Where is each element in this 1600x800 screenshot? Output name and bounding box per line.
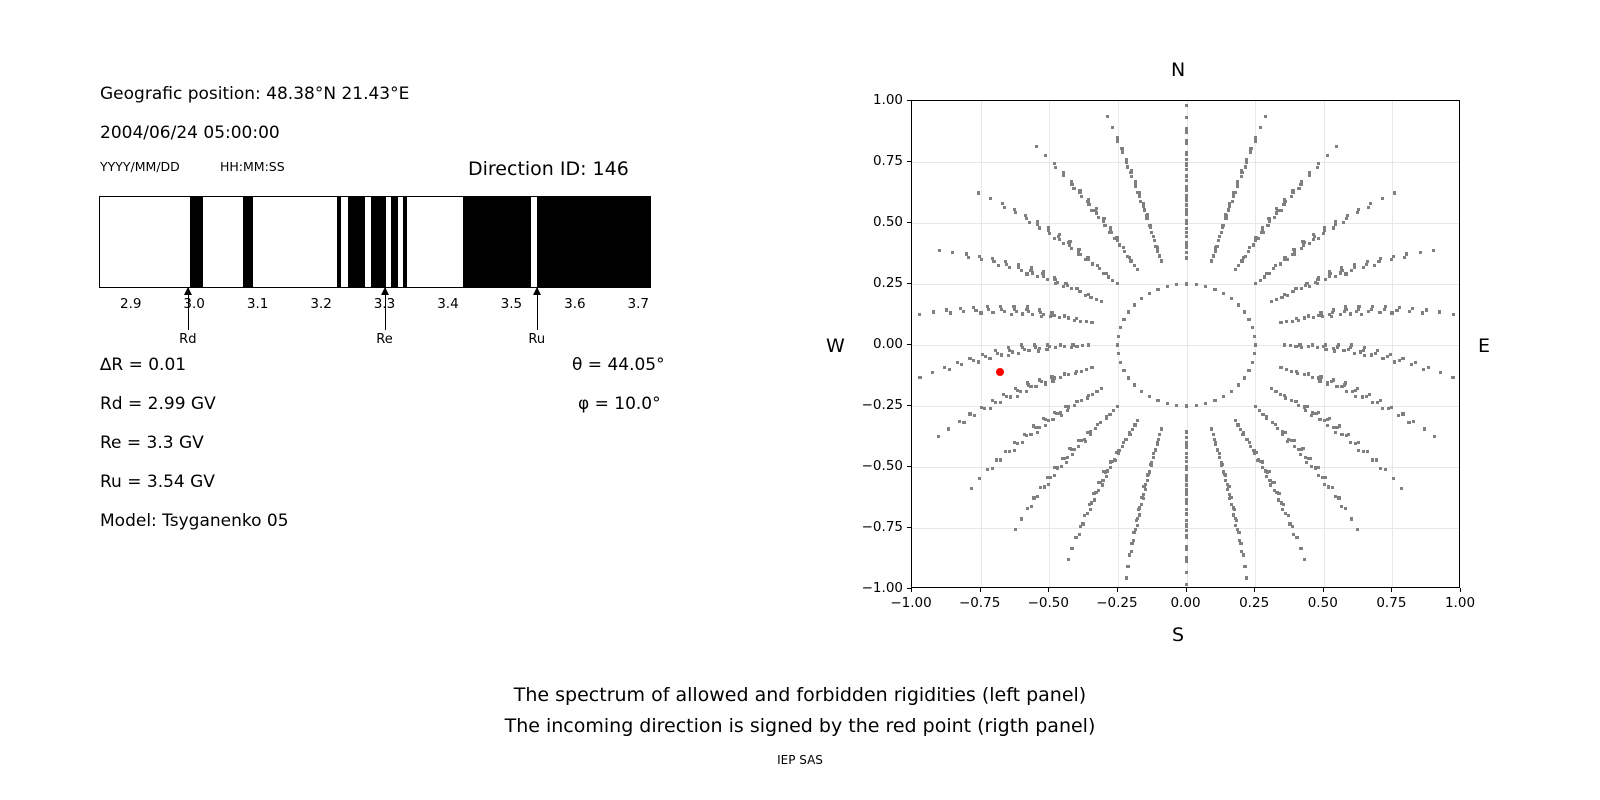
direction-point <box>1427 366 1430 369</box>
direction-point <box>1109 466 1112 469</box>
direction-point <box>1270 300 1273 303</box>
direction-point <box>1122 369 1125 372</box>
direction-point <box>1021 312 1024 315</box>
direction-point <box>1059 411 1062 414</box>
direction-point <box>1451 376 1454 379</box>
direction-point <box>1039 486 1042 489</box>
x-tick-mark <box>911 588 912 592</box>
direction-point <box>1080 195 1083 198</box>
direction-point <box>1245 576 1248 579</box>
direction-point <box>1122 318 1125 321</box>
direction-point <box>1036 275 1039 278</box>
y-tick-mark <box>907 466 911 467</box>
direction-point <box>1291 189 1294 192</box>
direction-point <box>1132 531 1135 534</box>
direction-point <box>1016 442 1019 445</box>
direction-point <box>956 361 959 364</box>
direction-point <box>1259 279 1262 282</box>
rigidity-tick-label: 3.5 <box>501 296 522 312</box>
direction-point <box>1204 402 1207 405</box>
direction-point <box>1070 183 1073 186</box>
direction-point <box>1217 239 1220 242</box>
direction-point <box>1234 419 1237 422</box>
direction-point <box>1095 211 1098 214</box>
direction-point <box>1281 508 1284 511</box>
direction-point <box>1289 344 1292 347</box>
direction-point <box>1011 350 1014 353</box>
direction-point <box>1115 451 1118 454</box>
direction-point <box>1401 357 1404 360</box>
direction-point <box>1300 247 1303 250</box>
direction-point <box>1294 287 1297 290</box>
direction-point <box>1038 226 1041 229</box>
direction-point <box>1326 381 1329 384</box>
direction-point <box>1185 162 1188 165</box>
direction-point <box>1242 553 1245 556</box>
direction-point <box>1312 316 1315 319</box>
direction-point <box>1410 363 1413 366</box>
direction-point <box>1146 217 1149 220</box>
direction-point <box>986 468 989 471</box>
direction-point <box>1136 419 1139 422</box>
direction-point <box>1311 411 1314 414</box>
direction-point <box>1212 254 1215 257</box>
direction-point <box>1433 435 1436 438</box>
direction-point <box>1392 255 1395 258</box>
direction-point <box>1107 275 1110 278</box>
direction-point <box>1185 493 1188 496</box>
direction-point <box>1319 375 1322 378</box>
direction-point <box>1059 376 1062 379</box>
direction-point <box>1305 461 1308 464</box>
direction-point <box>1185 174 1188 177</box>
direction-point <box>1067 316 1070 319</box>
direction-point <box>1119 361 1122 364</box>
direction-point <box>1421 311 1424 314</box>
forbidden-band <box>537 197 651 287</box>
direction-point <box>1375 458 1378 461</box>
direction-point <box>1357 441 1360 444</box>
direction-point <box>1087 343 1090 346</box>
direction-point <box>1349 441 1352 444</box>
direction-point <box>1244 165 1247 168</box>
figure-footer: IEP SAS <box>0 753 1600 767</box>
direction-point <box>1390 311 1393 314</box>
direction-point <box>1291 525 1294 528</box>
direction-point <box>1012 305 1015 308</box>
direction-point <box>1249 147 1252 150</box>
direction-point <box>1156 441 1159 444</box>
direction-point <box>1059 343 1062 346</box>
direction-point <box>1033 343 1036 346</box>
compass-label-south: S <box>1172 624 1184 646</box>
direction-point <box>1146 474 1149 477</box>
direction-point <box>983 407 986 410</box>
direction-point <box>1036 220 1039 223</box>
direction-point <box>1254 140 1257 143</box>
direction-point <box>1407 421 1410 424</box>
direction-point <box>1274 390 1277 393</box>
direction-point <box>1120 147 1123 150</box>
direction-point <box>1026 507 1029 510</box>
direction-point <box>1303 373 1306 376</box>
direction-point <box>1109 226 1112 229</box>
x-tick-label: 0.00 <box>1170 595 1200 611</box>
direction-point <box>1121 445 1124 448</box>
direction-point <box>1264 115 1267 118</box>
direction-point <box>1248 441 1251 444</box>
direction-point <box>1295 536 1298 539</box>
direction-point <box>987 308 990 311</box>
direction-point <box>1273 481 1276 484</box>
direction-point <box>1083 438 1086 441</box>
direction-point <box>1001 202 1004 205</box>
direction-point <box>1371 305 1374 308</box>
direction-point <box>1156 288 1159 291</box>
x-tick-label: 0.25 <box>1239 595 1269 611</box>
direction-point <box>1185 208 1188 211</box>
direction-point <box>1029 433 1032 436</box>
direction-point <box>1058 238 1061 241</box>
direction-point <box>1378 311 1381 314</box>
direction-point <box>994 401 997 404</box>
direction-point <box>1185 548 1188 551</box>
y-tick-mark <box>907 344 911 345</box>
direction-point <box>1283 256 1286 259</box>
direction-point <box>1279 393 1282 396</box>
direction-point <box>1222 292 1225 295</box>
direction-point <box>1303 558 1306 561</box>
direction-point <box>1185 235 1188 238</box>
direction-point <box>1276 427 1279 430</box>
direction-point <box>1126 565 1129 568</box>
direction-point <box>1185 213 1188 216</box>
direction-point <box>991 257 994 260</box>
direction-point <box>1293 445 1296 448</box>
direction-point <box>1363 354 1366 357</box>
direction-point <box>1083 514 1086 517</box>
direction-point <box>1242 431 1245 434</box>
direction-point <box>1334 495 1337 498</box>
direction-point <box>1133 383 1136 386</box>
direction-point <box>1134 180 1137 183</box>
direction-point <box>1254 282 1257 285</box>
direction-point <box>1367 206 1370 209</box>
direction-point <box>1390 406 1393 409</box>
direction-point <box>980 258 983 261</box>
direction-point <box>1185 456 1188 459</box>
direction-point <box>1038 308 1041 311</box>
direction-point <box>1274 423 1277 426</box>
direction-point <box>1070 247 1073 250</box>
direction-point <box>1044 424 1047 427</box>
direction-point <box>1291 253 1294 256</box>
direction-point <box>1053 237 1056 240</box>
direction-point <box>1097 489 1100 492</box>
direction-point <box>999 305 1002 308</box>
direction-point <box>1143 208 1146 211</box>
direction-point <box>1128 256 1131 259</box>
direction-point <box>1317 466 1320 469</box>
direction-point <box>1218 235 1221 238</box>
direction-point <box>1342 349 1345 352</box>
direction-point <box>994 349 997 352</box>
direction-point <box>1324 348 1327 351</box>
direction-point <box>1239 542 1242 545</box>
direction-point <box>1185 571 1188 574</box>
direction-point <box>1062 174 1065 177</box>
direction-point <box>1267 470 1270 473</box>
direction-point <box>1294 345 1297 348</box>
direction-point <box>962 421 965 424</box>
direction-point <box>1070 547 1073 550</box>
marker-arrowhead-icon <box>381 287 389 295</box>
forbidden-band-group <box>100 197 650 287</box>
direction-point <box>1008 450 1011 453</box>
direction-point <box>1346 214 1349 217</box>
direction-point <box>1105 475 1108 478</box>
direction-point <box>1228 202 1231 205</box>
rigidity-tick-label: 3.4 <box>437 296 458 312</box>
direction-point <box>1214 246 1217 249</box>
direction-point <box>1085 368 1088 371</box>
direction-point <box>1004 260 1007 263</box>
direction-point <box>1087 293 1090 296</box>
direction-point <box>1185 556 1188 559</box>
direction-point <box>1294 400 1297 403</box>
direction-point <box>1398 306 1401 309</box>
direction-point <box>1003 310 1006 313</box>
direction-point <box>1332 308 1335 311</box>
direction-point <box>1363 346 1366 349</box>
direction-point <box>938 249 941 252</box>
direction-point <box>1087 198 1090 201</box>
direction-point <box>1067 405 1070 408</box>
direction-point <box>1021 441 1024 444</box>
direction-point <box>1317 276 1320 279</box>
direction-point <box>1210 259 1213 262</box>
direction-point <box>1308 242 1311 245</box>
figure-canvas: Geografic position: 48.38°N 21.43°E 2004… <box>0 0 1600 800</box>
y-tick-label: 1.00 <box>873 92 903 108</box>
direction-point <box>1102 470 1105 473</box>
direction-id-label: Direction ID: 146 <box>468 160 629 179</box>
direction-point <box>1002 393 1005 396</box>
direction-point <box>1185 529 1188 532</box>
direction-point <box>1311 376 1314 379</box>
direction-point <box>1185 467 1188 470</box>
direction-point <box>1116 405 1119 408</box>
direction-point <box>1185 282 1188 285</box>
direction-point <box>1070 180 1073 183</box>
direction-point <box>1361 395 1364 398</box>
direction-point <box>1370 353 1373 356</box>
direction-point <box>1128 553 1131 556</box>
direction-point <box>1081 522 1084 525</box>
direction-point <box>1222 395 1225 398</box>
direction-point <box>1254 451 1257 454</box>
direction-scatter-points <box>912 101 1459 587</box>
direction-point <box>1066 409 1069 412</box>
direction-point <box>1093 498 1096 501</box>
direction-point <box>1297 187 1300 190</box>
direction-point <box>1003 206 1006 209</box>
direction-point <box>1020 517 1023 520</box>
rigidity-tick-label: 3.6 <box>564 296 585 312</box>
direction-point <box>1133 423 1136 426</box>
time-format-hint: HH:MM:SS <box>220 161 285 174</box>
x-tick-mark <box>1254 588 1255 592</box>
x-tick-mark <box>1391 588 1392 592</box>
direction-point <box>1079 320 1082 323</box>
direction-point <box>1078 533 1081 536</box>
direction-point <box>1400 487 1403 490</box>
direction-point <box>1140 390 1143 393</box>
direction-point <box>1240 259 1243 262</box>
direction-point <box>1017 263 1020 266</box>
incoming-direction-panel: −1.00−0.75−0.50−0.250.000.250.500.751.00… <box>800 0 1600 660</box>
direction-point <box>1117 335 1120 338</box>
direction-point <box>1064 405 1067 408</box>
direction-point <box>1013 208 1016 211</box>
direction-point <box>968 357 971 360</box>
model-value: Model: Tsyganenko 05 <box>100 513 289 530</box>
direction-point <box>1009 395 1012 398</box>
compass-label-west: W <box>826 335 845 357</box>
direction-point <box>1236 180 1239 183</box>
direction-point <box>1353 263 1356 266</box>
direction-point <box>1085 320 1088 323</box>
forbidden-band <box>337 197 341 287</box>
direction-point <box>1381 197 1384 200</box>
direction-point <box>1439 371 1442 374</box>
direction-point <box>1419 251 1422 254</box>
direction-point <box>1146 479 1149 482</box>
direction-point <box>1438 310 1441 313</box>
direction-point <box>1237 383 1240 386</box>
direction-point <box>1212 433 1215 436</box>
x-tick-mark <box>1048 588 1049 592</box>
direction-point <box>918 376 921 379</box>
direction-point <box>1247 250 1250 253</box>
direction-point <box>1185 246 1188 249</box>
direction-point <box>1283 293 1286 296</box>
selected-direction-point <box>996 368 1004 376</box>
direction-point <box>1227 208 1230 211</box>
direction-point <box>1075 400 1078 403</box>
direction-point <box>1368 393 1371 396</box>
direction-point <box>1265 272 1268 275</box>
direction-point <box>1384 305 1387 308</box>
direction-point <box>1185 179 1188 182</box>
direction-point <box>977 191 980 194</box>
direction-point <box>1112 409 1115 412</box>
direction-point <box>1062 171 1065 174</box>
phi-value: φ = 10.0° <box>578 396 661 413</box>
direction-point <box>995 458 998 461</box>
direction-point <box>1379 467 1382 470</box>
direction-point <box>1254 343 1257 346</box>
direction-point <box>1299 183 1302 186</box>
direction-point <box>1073 404 1076 407</box>
direction-point <box>1305 282 1308 285</box>
direction-point <box>1000 353 1003 356</box>
direction-point <box>1160 259 1163 262</box>
direction-point <box>1324 476 1327 479</box>
direction-point <box>1393 191 1396 194</box>
direction-point <box>1334 431 1337 434</box>
y-tick-mark <box>907 405 911 406</box>
direction-point <box>978 477 981 480</box>
direction-point <box>1290 370 1293 373</box>
direction-point <box>1185 197 1188 200</box>
direction-point <box>1432 249 1435 252</box>
direction-point <box>1247 318 1250 321</box>
direction-point <box>1102 217 1105 220</box>
direction-point <box>1152 456 1155 459</box>
direction-point <box>1308 171 1311 174</box>
direction-point <box>1016 395 1019 398</box>
direction-point <box>1067 373 1070 376</box>
direction-point <box>1275 211 1278 214</box>
direction-point <box>1260 231 1263 234</box>
x-tick-mark <box>1186 588 1187 592</box>
y-tick-mark <box>907 283 911 284</box>
direction-point <box>1116 282 1119 285</box>
direction-point <box>1279 209 1282 212</box>
direction-point <box>1280 296 1283 299</box>
direction-point <box>1014 528 1017 531</box>
direction-point <box>1221 463 1224 466</box>
direction-point <box>960 363 963 366</box>
direction-point <box>1291 290 1294 293</box>
forbidden-band <box>403 197 407 287</box>
direction-point <box>1166 402 1169 405</box>
rigidity-tick-label: 3.7 <box>628 296 649 312</box>
direction-point <box>1295 370 1298 373</box>
direction-point <box>1230 390 1233 393</box>
direction-point <box>1122 441 1125 444</box>
direction-point <box>1185 220 1188 223</box>
direction-point <box>1332 378 1335 381</box>
direction-point <box>1397 414 1400 417</box>
direction-point <box>1074 536 1077 539</box>
direction-point <box>991 399 994 402</box>
direction-point <box>1345 217 1348 220</box>
direction-point <box>1344 381 1347 384</box>
direction-point <box>1236 185 1239 188</box>
y-tick-mark <box>907 100 911 101</box>
direction-point <box>1335 385 1338 388</box>
compass-label-north: N <box>1171 59 1185 81</box>
y-tick-mark <box>907 161 911 162</box>
direction-point <box>1340 505 1343 508</box>
direction-point <box>948 368 951 371</box>
direction-point <box>1230 496 1233 499</box>
y-tick-label: 0.25 <box>873 275 903 291</box>
delta-r-value: ∆R = 0.01 <box>100 357 186 374</box>
direction-point <box>1185 513 1188 516</box>
direction-point <box>1046 476 1049 479</box>
geographic-position-label: Geografic position: 48.38°N 21.43°E <box>100 86 409 103</box>
direction-point <box>1326 154 1329 157</box>
direction-point <box>1371 401 1374 404</box>
direction-point <box>1063 314 1066 317</box>
direction-point <box>1265 475 1268 478</box>
direction-point <box>1058 233 1061 236</box>
direction-point <box>1224 217 1227 220</box>
direction-point <box>1156 246 1159 249</box>
